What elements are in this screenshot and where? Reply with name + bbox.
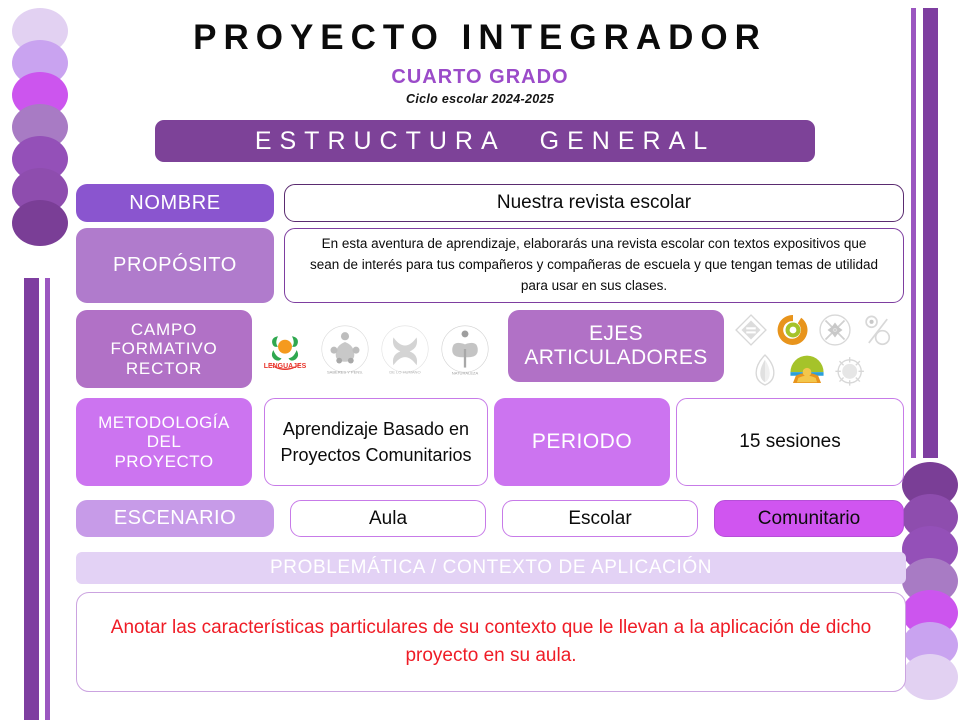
escenario-label: ESCENARIO: [76, 500, 274, 537]
campo-formativo-label-line3: RECTOR: [126, 359, 202, 378]
lenguajes-icon[interactable]: LENGUAJES: [256, 320, 314, 378]
rail-bar-thin: [45, 278, 50, 720]
metodologia-label-line1: METODOLOGÍA: [98, 413, 230, 432]
escenario-option-comunitario[interactable]: Comunitario: [714, 500, 904, 537]
grade-subtitle: CUARTO GRADO: [160, 66, 800, 89]
rail-bar-wide: [24, 278, 39, 720]
etica-naturaleza-sociedades-icon[interactable]: DE LO HUMANO: [376, 320, 434, 378]
saberes-pensamiento-cientifico-icon[interactable]: SABERES Y PENS.: [316, 320, 374, 378]
ejes-label-line2: ARTICULADORES: [524, 346, 707, 370]
svg-text:DE LO HUMANO: DE LO HUMANO: [389, 369, 420, 374]
interculturalidad-critica-icon[interactable]: [814, 310, 856, 350]
rail-bar-wide: [923, 8, 938, 458]
igualdad-de-genero-icon[interactable]: [856, 310, 898, 350]
left-decorative-rail: [0, 0, 80, 720]
page-title: PROYECTO INTEGRADOR: [160, 20, 800, 57]
banner-right-text: GENERAL: [540, 127, 715, 156]
campo-formativo-label: CAMPO FORMATIVO RECTOR: [76, 310, 252, 388]
metodologia-label: METODOLOGÍA DEL PROYECTO: [76, 398, 252, 486]
de-lo-humano-comunitario-icon[interactable]: NATURALEZA: [436, 320, 494, 378]
svg-text:LENGUAJES: LENGUAJES: [264, 363, 307, 370]
periodo-label: PERIODO: [494, 398, 670, 486]
periodo-value[interactable]: 15 sesiones: [676, 398, 904, 486]
proposito-value[interactable]: En esta aventura de aprendizaje, elabora…: [284, 228, 904, 303]
pensamiento-critico-icon[interactable]: [772, 310, 814, 350]
problematica-value[interactable]: Anotar las características particulares …: [76, 592, 906, 692]
escenario-option-escolar[interactable]: Escolar: [502, 500, 698, 537]
svg-text:NATURALEZA: NATURALEZA: [452, 371, 479, 376]
campo-formativo-label-line1: CAMPO: [131, 320, 197, 339]
apropiacion-culturas-lectura-escritura-icon[interactable]: [786, 350, 828, 390]
rail-bar-thin: [911, 8, 916, 458]
metodologia-label-line3: PROYECTO: [114, 452, 213, 471]
section-banner: ESTRUCTURA GENERAL: [155, 120, 815, 162]
campo-formativo-label-line2: FORMATIVO: [111, 339, 218, 358]
svg-text:SABERES Y PENS.: SABERES Y PENS.: [327, 369, 363, 374]
school-cycle: Ciclo escolar 2024-2025: [160, 92, 800, 106]
rail-ellipse: [12, 200, 68, 246]
campo-formativo-icons: LENGUAJES SABERES Y PENS. DE LO HUMANO: [256, 310, 504, 388]
vida-saludable-icon[interactable]: [744, 350, 786, 390]
escenario-option-aula[interactable]: Aula: [290, 500, 486, 537]
nombre-label: NOMBRE: [76, 184, 274, 222]
ejes-articuladores-label: EJES ARTICULADORES: [508, 310, 724, 382]
ejes-articuladores-icons: [730, 310, 910, 390]
ejes-label-line1: EJES: [589, 322, 643, 346]
nombre-value[interactable]: Nuestra revista escolar: [284, 184, 904, 222]
banner-left-text: ESTRUCTURA: [255, 127, 506, 156]
inclusion-icon[interactable]: [730, 310, 772, 350]
proposito-label: PROPÓSITO: [76, 228, 274, 303]
artes-experiencias-esteticas-icon[interactable]: [828, 350, 870, 390]
metodologia-label-line2: DEL: [147, 432, 182, 451]
problematica-label: PROBLEMÁTICA / CONTEXTO DE APLICACIÓN: [76, 552, 906, 584]
metodologia-value[interactable]: Aprendizaje Basado en Proyectos Comunita…: [264, 398, 488, 486]
rail-ellipse: [902, 654, 958, 700]
